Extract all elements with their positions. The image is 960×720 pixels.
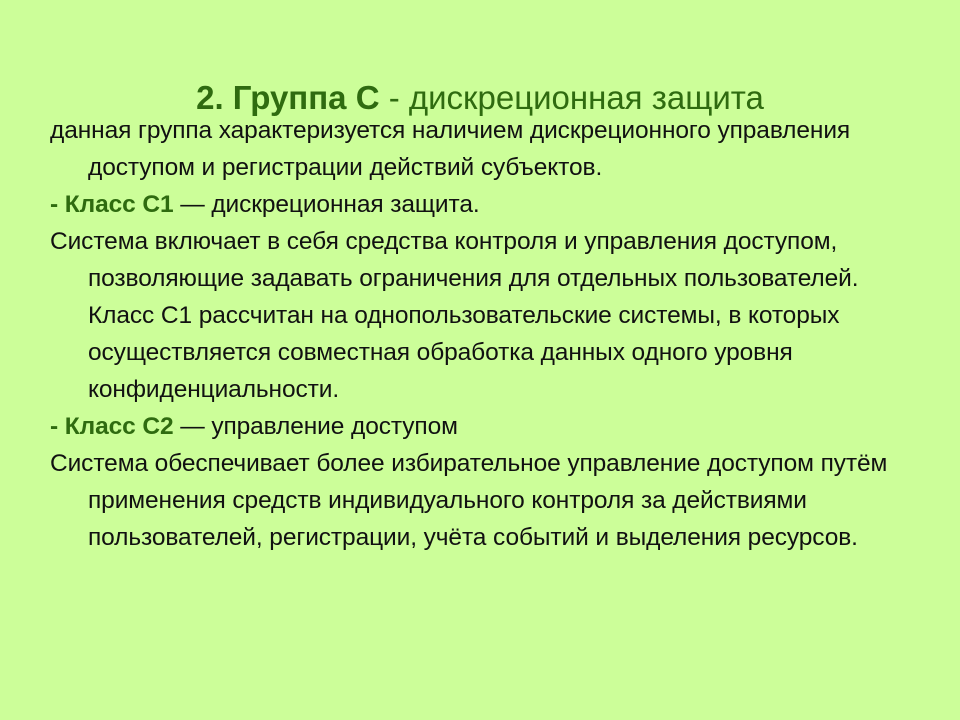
slide-title-rest: - дискреционная защита [380,79,764,116]
presentation-slide: 2. Группа C - дискреционная защита данна… [0,0,960,720]
class-c1-body-text: Система включает в себя средства контрол… [50,228,858,403]
paragraph-class-c1-heading: - Класс C1 — дискреционная защита. [50,186,910,223]
paragraph-class-c2-body: Система обеспечивает более избирательное… [50,445,910,556]
slide-title-bold: 2. Группа C [196,79,379,116]
class-c2-label: - Класс C2 [50,413,174,440]
class-c2-heading-text: — управление доступом [174,413,458,440]
class-c1-label: - Класс C1 [50,191,174,218]
class-c1-heading-text: — дискреционная защита. [174,191,480,218]
paragraph-class-c1-body: Система включает в себя средства контрол… [50,223,910,408]
paragraph-intro: данная группа характеризуется наличием д… [50,112,910,186]
slide-body: данная группа характеризуется наличием д… [50,112,910,556]
paragraph-intro-text: данная группа характеризуется наличием д… [50,117,850,181]
paragraph-class-c2-heading: - Класс C2 — управление доступом [50,408,910,445]
class-c2-body-text: Система обеспечивает более избирательное… [50,450,887,551]
